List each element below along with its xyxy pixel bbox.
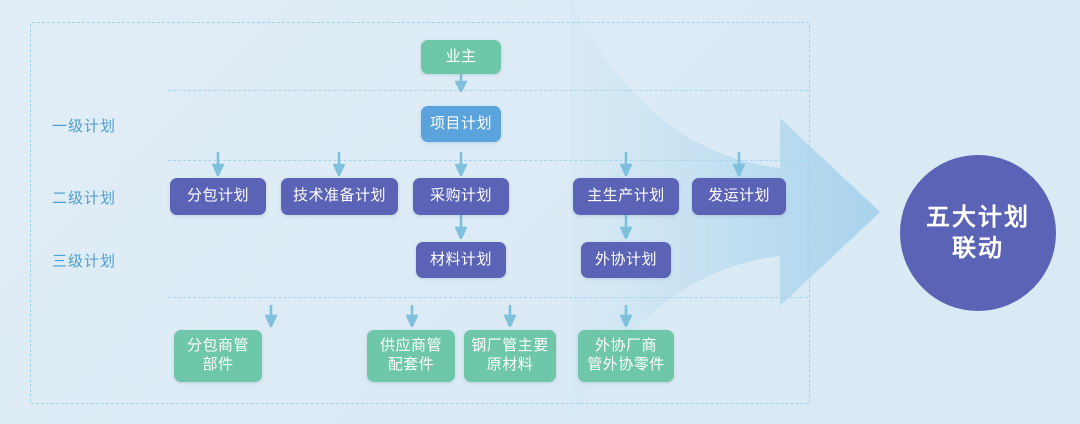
node-outsourcing-plan[interactable]: 外协计划 [581,242,671,278]
node-subcontract-plan[interactable]: 分包计划 [170,178,266,215]
arrow-to-tech-prep-plan [333,152,345,176]
arrow-to-shipping-plan [733,152,745,176]
node-project-plan-label: 项目计划 [430,115,492,134]
node-owner[interactable]: 业主 [421,40,501,74]
node-outsourcing-plan-label: 外协计划 [595,251,657,270]
diagram-canvas: 一级计划 二级计划 三级计划 业主 项目计划 分 [0,0,1080,424]
result-circle[interactable]: 五大计划 联动 [900,155,1056,311]
node-subcontract-plan-label: 分包计划 [187,187,249,206]
separator-level1-top [168,90,808,91]
node-steel-mill-raw-line2: 原材料 [487,356,534,375]
node-procurement-plan-label: 采购计划 [430,187,492,206]
node-project-plan[interactable]: 项目计划 [421,106,501,142]
arrow-to-steel-mill-raw [504,305,516,327]
level-label-1: 一级计划 [52,115,116,136]
node-subcontractor-parts-line2: 部件 [202,356,233,375]
arrow-to-main-production-plan [620,152,632,176]
node-subcontractor-parts-line1: 分包商管 [187,337,249,356]
arrow-to-supplier-kits [406,305,418,327]
result-circle-line2: 联动 [952,233,1004,264]
node-tech-prep-plan[interactable]: 技术准备计划 [281,178,398,215]
node-material-plan[interactable]: 材料计划 [416,242,506,278]
node-main-production-plan[interactable]: 主生产计划 [573,178,679,215]
node-owner-label: 业主 [445,48,476,67]
result-circle-line1: 五大计划 [926,202,1030,233]
node-supplier-kits-line2: 配套件 [388,356,435,375]
node-subcontractor-parts[interactable]: 分包商管 部件 [174,330,262,382]
level-label-2: 二级计划 [52,187,116,208]
arrow-to-subcontractor-parts [265,305,277,327]
node-outsourcing-vendor-line1: 外协厂商 [595,337,657,356]
node-steel-mill-raw-line1: 钢厂管主要 [471,337,549,356]
arrow-to-procurement-plan [455,152,467,176]
node-main-production-plan-label: 主生产计划 [587,187,665,206]
node-outsourcing-vendor[interactable]: 外协厂商 管外协零件 [578,330,674,382]
node-procurement-plan[interactable]: 采购计划 [413,178,509,215]
separator-suppliers-top [168,297,808,298]
node-supplier-kits-line1: 供应商管 [380,337,442,356]
arrow-to-outsourcing-vendor [620,305,632,327]
arrow-to-subcontract-plan [212,152,224,176]
node-outsourcing-vendor-line2: 管外协零件 [587,356,665,375]
node-material-plan-label: 材料计划 [430,251,492,270]
arrow-to-material-plan [455,215,467,239]
arrow-to-outsourcing-plan [620,215,632,239]
separator-level2-top [168,160,808,161]
node-steel-mill-raw[interactable]: 钢厂管主要 原材料 [464,330,556,382]
node-shipping-plan[interactable]: 发运计划 [692,178,786,215]
level-label-3: 三级计划 [52,250,116,271]
node-shipping-plan-label: 发运计划 [708,187,770,206]
node-supplier-kits[interactable]: 供应商管 配套件 [367,330,455,382]
node-tech-prep-plan-label: 技术准备计划 [293,187,386,206]
